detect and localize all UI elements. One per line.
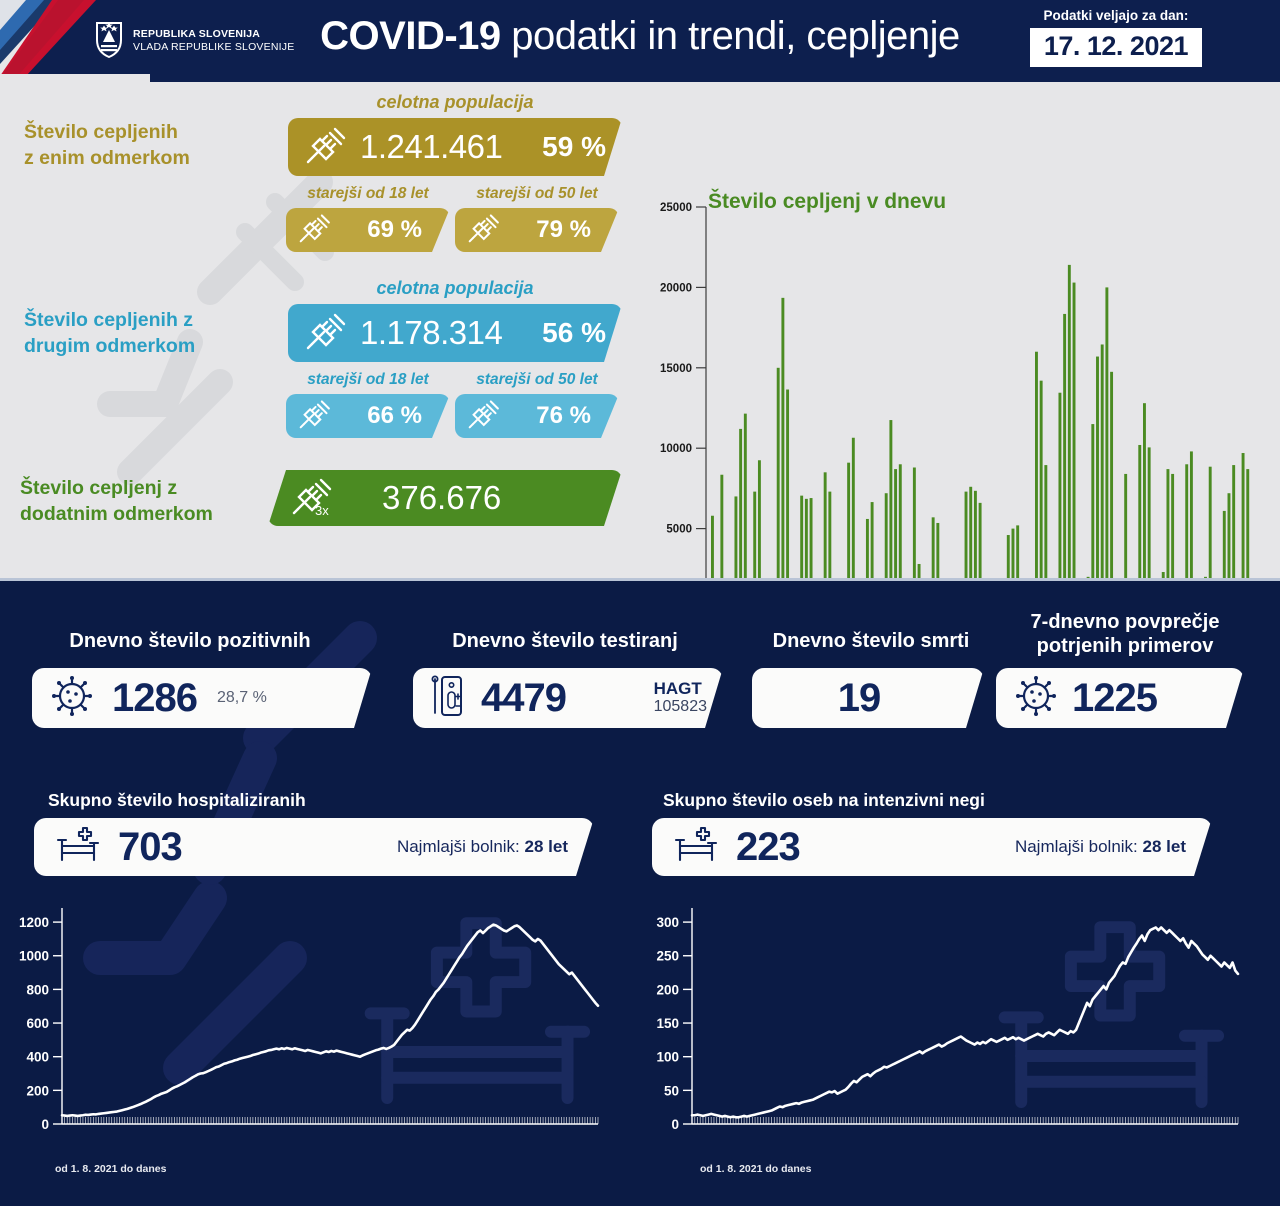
stat-value-deaths: 19 [838,676,881,721]
syringe-icon: 3x [290,475,336,522]
page-header: REPUBLIKA SLOVENIJA VLADA REPUBLIKE SLOV… [0,0,1280,82]
icu-card: 223 Najmlajši bolnik: 28 let [652,818,1212,876]
icu-title: Skupno število oseb na intenzivni negi [663,790,985,811]
date-block: Podatki veljajo za dan: 17. 12. 2021 [1030,8,1202,67]
booster-count: 376.676 [382,479,501,517]
hospital-bed-icon [54,824,100,871]
syringe-icon [465,398,501,435]
stat-title-positive: Dnevno število pozitivnih [20,629,360,653]
dose2-18-caption: starejši od 18 let [286,371,450,389]
dose2-label: Število cepljenih z drugim odmerkom [24,308,195,359]
dose1-18-pct: 69 % [367,216,422,244]
title-light: podatki in trendi, cepljenje [501,14,960,58]
date-label: Podatki veljajo za dan: [1030,8,1202,23]
dose2-50-badge: 76 % [455,394,619,438]
icu-chart-footer: od 1. 8. 2021 do danes [700,1163,811,1175]
title-bold: COVID-19 [320,14,501,58]
daily-vaccinations-chart: Število cepljenj v dnevu 050001000015000… [640,177,1260,578]
stat-sub-tests: HAGT 105823 [654,680,707,715]
stat-title-deaths: Dnevno število smrti [756,629,986,653]
stat-card-deaths: 19 [752,668,984,728]
svg-text:800: 800 [26,982,49,997]
stat-title-avg7-line2: potrjenih primerov [1000,634,1250,658]
syringe-icon [302,125,348,170]
icu-chart: 050100150200250300 [640,896,1270,1171]
test-kit-icon [429,673,465,724]
dose1-50-badge: 79 % [455,208,619,252]
dose2-label-line1: Število cepljenih z [24,308,195,334]
svg-text:50: 50 [664,1083,679,1098]
svg-text:100: 100 [656,1050,679,1065]
dose1-label: Število cepljenih z enim odmerkom [24,120,190,171]
hagt-label: HAGT [654,680,707,698]
hospital-title: Skupno število hospitaliziranih [48,790,306,811]
dose1-total-count: 1.241.461 [360,128,502,166]
dose2-18-pct: 66 % [367,402,422,430]
syringe-icon [296,212,332,249]
svg-text:0: 0 [671,1117,679,1132]
booster-label-line2: dodatnim odmerkom [20,502,213,528]
dose2-label-line2: drugim odmerkom [24,334,195,360]
stat-title-avg7: 7-dnevno povprečje potrjenih primerov [1000,610,1250,658]
dose1-total-pct: 59 % [542,131,606,163]
dose2-50-pct: 76 % [536,402,591,430]
dose1-50-caption: starejši od 50 let [455,185,619,203]
icu-note-label: Najmlajši bolnik: [1015,837,1138,856]
dose2-total-badge: 1.178.314 56 % [288,304,622,362]
hagt-value: 105823 [654,698,707,716]
daily-vaccinations-plot: 0500010000150002000025000 [640,177,1260,578]
svg-text:5000: 5000 [666,524,692,536]
vaccination-section: Število cepljenih z enim odmerkom celotn… [0,82,1280,578]
svg-text:200: 200 [26,1083,49,1098]
svg-text:3x: 3x [315,503,329,517]
syringe-icon [302,311,348,356]
date-value: 17. 12. 2021 [1030,28,1202,67]
stat-card-tests: 4479 HAGT 105823 [413,668,723,728]
dose1-total-badge: 1.241.461 59 % [288,118,622,176]
dose2-18-badge: 66 % [286,394,450,438]
stat-title-avg7-line1: 7-dnevno povprečje [1000,610,1250,634]
stat-value-tests: 4479 [481,676,566,721]
syringe-icon [465,212,501,249]
icu-note-value: 28 let [1143,837,1186,856]
hospital-chart: 020040060080010001200 [0,896,630,1171]
dose2-total-count: 1.178.314 [360,314,502,352]
booster-label-line1: Število cepljenj z [20,476,213,502]
dose1-total-caption: celotna populacija [288,92,622,113]
stat-card-positive: 1286 28,7 % [32,668,372,728]
icu-note: Najmlajši bolnik: 28 let [1015,837,1186,857]
dose2-total-pct: 56 % [542,317,606,349]
stat-title-tests: Dnevno število testiranj [400,629,730,653]
dose2-total-caption: celotna populacija [288,278,622,299]
booster-badge: 3x 376.676 [268,470,622,526]
svg-text:1000: 1000 [19,949,49,964]
dose1-50-pct: 79 % [536,216,591,244]
virus-icon [50,674,94,723]
hospital-value: 703 [118,825,182,870]
hospital-bed-icon [672,824,718,871]
svg-text:600: 600 [26,1016,49,1031]
svg-text:200: 200 [656,982,679,997]
dose1-label-line1: Število cepljenih [24,120,190,146]
hospital-plot: 020040060080010001200 [0,896,630,1166]
hospital-note-label: Najmlajši bolnik: [397,837,520,856]
stat-value-positive: 1286 [112,676,197,721]
dose1-18-caption: starejši od 18 let [286,185,450,203]
svg-text:0: 0 [41,1117,49,1132]
icu-value: 223 [736,825,800,870]
syringe-icon [296,398,332,435]
hospital-note: Najmlajši bolnik: 28 let [397,837,568,857]
svg-text:400: 400 [26,1050,49,1065]
hospital-note-value: 28 let [525,837,568,856]
svg-text:20000: 20000 [660,282,692,294]
hospital-chart-footer: od 1. 8. 2021 do danes [55,1163,166,1175]
svg-text:1200: 1200 [19,915,49,930]
svg-text:25000: 25000 [660,202,692,214]
svg-text:150: 150 [656,1016,679,1031]
svg-text:300: 300 [656,915,679,930]
stat-card-avg7: 1225 [996,668,1244,728]
stat-value-avg7: 1225 [1072,676,1157,721]
section-divider [0,578,1280,581]
svg-text:10000: 10000 [660,443,692,455]
svg-text:250: 250 [656,949,679,964]
dose1-18-badge: 69 % [286,208,450,252]
stat-sub-positive: 28,7 % [217,689,267,707]
booster-label: Število cepljenj z dodatnim odmerkom [20,476,213,527]
virus-icon [1014,674,1058,723]
hospital-card: 703 Najmlajši bolnik: 28 let [34,818,594,876]
icu-plot: 050100150200250300 [640,896,1270,1166]
dose2-50-caption: starejši od 50 let [455,371,619,389]
svg-text:15000: 15000 [660,363,692,375]
cases-section: Dnevno število pozitivnih [0,578,1280,1206]
dose1-label-line2: z enim odmerkom [24,146,190,172]
